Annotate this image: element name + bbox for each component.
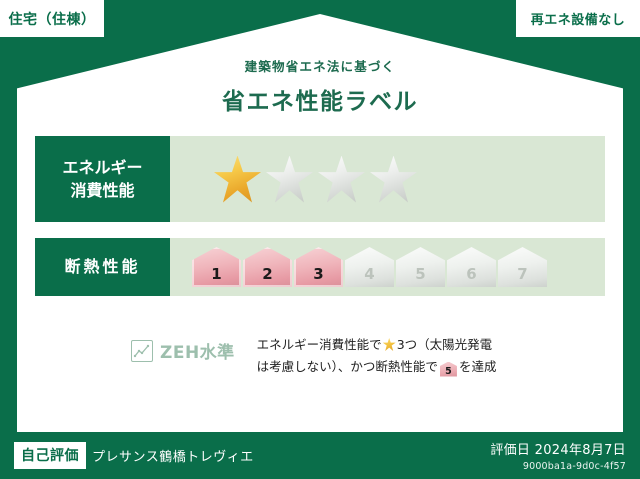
evaluation-date: 評価日 2024年8月7日: [490, 439, 626, 458]
zeh-note-line2-after: を達成: [459, 359, 497, 374]
insulation-level-scale: 1234567: [192, 247, 547, 287]
row-insulation-performance: 断熱性能 1234567: [35, 238, 605, 296]
row-insulation-label: 断熱性能: [35, 238, 170, 296]
insulation-level-2: 2: [243, 247, 292, 287]
footer-meta: 評価日 2024年8月7日 9000ba1a-9d0c-4f57: [490, 439, 626, 472]
title-main: 省エネ性能ラベル: [0, 82, 640, 116]
evaluation-type-badge: 自己評価: [14, 442, 86, 469]
star-1: [214, 156, 261, 203]
insulation-level-6: 6: [447, 247, 496, 287]
insulation-level-5: 5: [396, 247, 445, 287]
chart-icon: [131, 340, 153, 362]
row-energy-performance: エネルギー 消費性能: [35, 136, 605, 222]
zeh-note-line2-before: は考慮しない）、かつ断熱性能で: [257, 359, 438, 374]
star-4: [370, 156, 417, 203]
zeh-note-line1: エネルギー消費性能で3つ（太陽光発電: [257, 334, 497, 356]
insulation-level-7: 7: [498, 247, 547, 287]
mini-star-icon: [383, 338, 396, 351]
mini-chip-icon: 5: [440, 362, 457, 377]
row-energy-label-line1: エネルギー: [62, 156, 142, 179]
row-energy-label-line2: 消費性能: [70, 179, 134, 202]
badge-housing-type: 住宅（住棟）: [0, 0, 104, 37]
zeh-note-line1-after: 3つ（太陽光発電: [397, 337, 492, 352]
insulation-level-4: 4: [345, 247, 394, 287]
zeh-note: エネルギー消費性能で3つ（太陽光発電 は考慮しない）、かつ断熱性能で5を達成: [257, 334, 497, 377]
page-title: 建築物省エネ法に基づく 省エネ性能ラベル: [0, 56, 640, 116]
energy-performance-label: 住宅（住棟） 再エネ設備なし 建築物省エネ法に基づく 省エネ性能ラベル エネルギ…: [0, 0, 640, 479]
insulation-level-3: 3: [294, 247, 343, 287]
footer: 自己評価 プレサンス鶴橋トレヴィエ 評価日 2024年8月7日 9000ba1a…: [0, 432, 640, 479]
row-energy-label: エネルギー 消費性能: [35, 136, 170, 222]
zeh-section: ZEH水準 エネルギー消費性能で3つ（太陽光発電 は考慮しない）、かつ断熱性能で…: [35, 330, 605, 392]
badge-renewable-energy: 再エネ設備なし: [516, 0, 640, 37]
row-insulation-value: 1234567: [170, 238, 605, 296]
star-3: [318, 156, 365, 203]
row-energy-value: [170, 136, 605, 222]
zeh-label: ZEH水準: [160, 338, 235, 363]
zeh-note-line1-before: エネルギー消費性能で: [257, 337, 382, 352]
zeh-note-line2: は考慮しない）、かつ断熱性能で5を達成: [257, 356, 497, 378]
evaluation-id: 9000ba1a-9d0c-4f57: [490, 461, 626, 472]
insulation-level-1: 1: [192, 247, 241, 287]
zeh-mark: ZEH水準: [131, 338, 235, 363]
star-rating: [214, 156, 417, 203]
building-name: プレサンス鶴橋トレヴィエ: [92, 446, 254, 465]
star-2: [266, 156, 313, 203]
row-insulation-label-text: 断熱性能: [64, 255, 140, 278]
title-subtitle: 建築物省エネ法に基づく: [0, 56, 640, 75]
